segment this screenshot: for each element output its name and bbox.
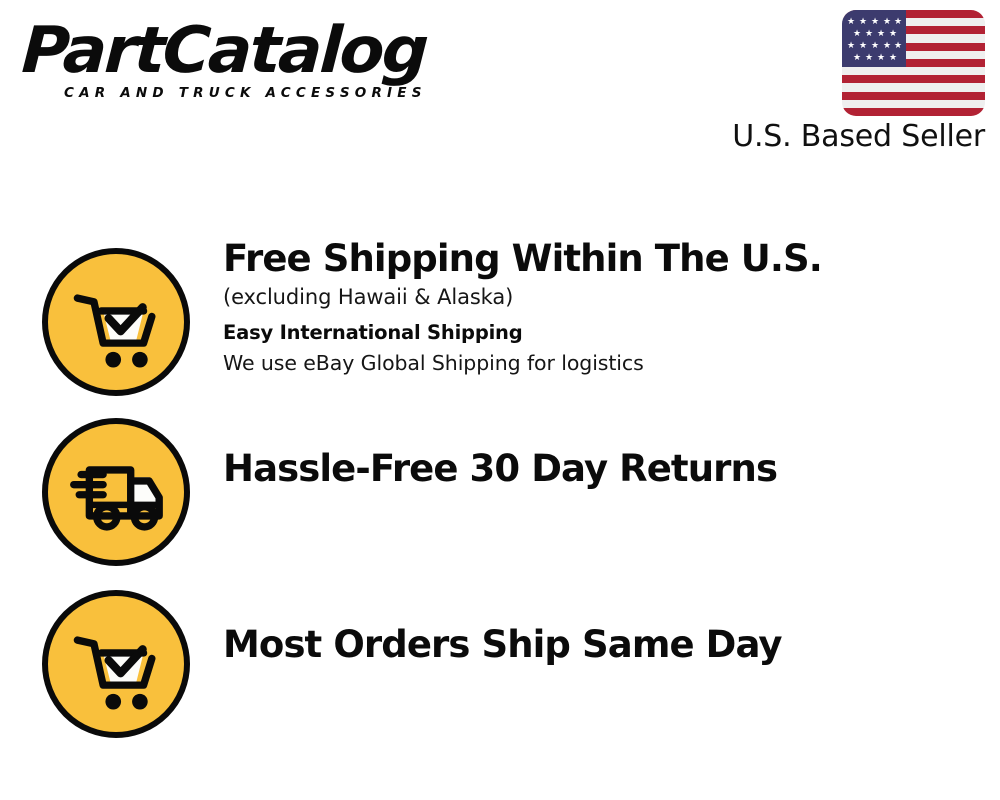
benefit-text-block: Free Shipping Within The U.S. (excluding… bbox=[223, 236, 983, 378]
banner-header: PartCatalog CAR AND TRUCK ACCESSORIES ★ … bbox=[0, 0, 1000, 170]
us-flag-icon: ★ ★ ★ ★ ★ ★ ★ ★ ★ ★ ★ ★ ★ ★ ★ ★ ★ ★ bbox=[842, 10, 985, 116]
benefit-row: Most Orders Ship Same Day bbox=[0, 572, 1000, 732]
part-catalog-logo: PartCatalog CAR AND TRUCK ACCESSORIES bbox=[22, 18, 492, 101]
benefit-heading: Free Shipping Within The U.S. bbox=[223, 236, 983, 282]
flag-canton: ★ ★ ★ ★ ★ ★ ★ ★ ★ ★ ★ ★ ★ ★ ★ ★ ★ ★ bbox=[842, 10, 906, 67]
us-based-seller-badge: ★ ★ ★ ★ ★ ★ ★ ★ ★ ★ ★ ★ ★ ★ ★ ★ ★ ★ U.S.… bbox=[715, 10, 985, 154]
delivery-truck-icon bbox=[42, 418, 190, 566]
benefit-secondary-heading: Easy International Shipping bbox=[223, 318, 983, 348]
benefit-text-block: Hassle-Free 30 Day Returns bbox=[223, 446, 983, 492]
shopping-cart-check-icon bbox=[42, 248, 190, 396]
us-based-seller-label: U.S. Based Seller bbox=[715, 120, 985, 154]
benefit-text-block: Most Orders Ship Same Day bbox=[223, 622, 983, 668]
benefit-secondary-text: We use eBay Global Shipping for logistic… bbox=[223, 348, 983, 378]
benefit-row: Free Shipping Within The U.S. (excluding… bbox=[0, 230, 1000, 390]
benefit-subheading: (excluding Hawaii & Alaska) bbox=[223, 282, 983, 312]
benefit-heading: Hassle-Free 30 Day Returns bbox=[223, 446, 983, 492]
benefit-row: Hassle-Free 30 Day Returns bbox=[0, 400, 1000, 560]
benefit-heading: Most Orders Ship Same Day bbox=[223, 622, 983, 668]
shopping-cart-check-icon bbox=[42, 590, 190, 738]
brand-wordmark: PartCatalog bbox=[20, 18, 503, 84]
